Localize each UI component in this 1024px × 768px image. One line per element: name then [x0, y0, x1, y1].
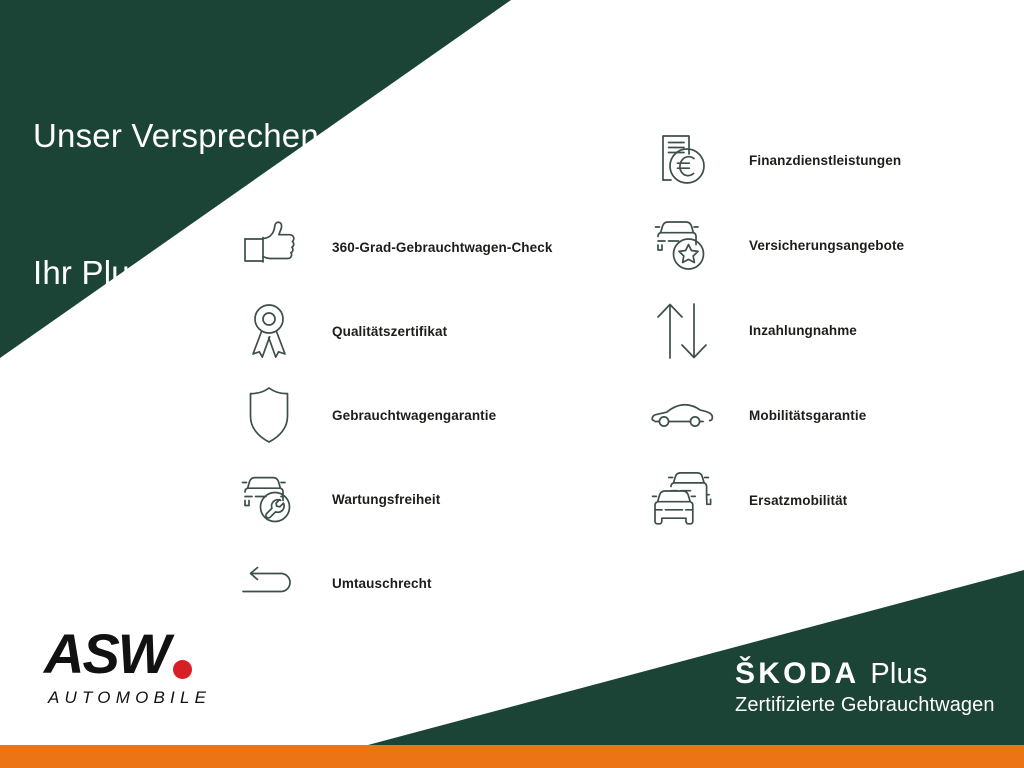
two-cars-icon	[645, 468, 719, 534]
car-wrench-icon	[232, 466, 306, 532]
shield-icon	[232, 382, 306, 448]
skoda-logo-row: ŠKODA Plus	[735, 659, 1015, 689]
feature-label: Umtauschrecht	[332, 576, 432, 591]
return-arrow-icon	[232, 550, 306, 616]
asw-wordmark-text: ASW	[44, 626, 169, 682]
feature-item-versicherungsangebote[interactable]: Versicherungsangebote	[645, 203, 1015, 288]
rosette-award-icon	[232, 298, 306, 364]
feature-item-360-grad-check[interactable]: 360-Grad-Gebrauchtwagen-Check	[232, 205, 592, 289]
feature-label: Finanzdienstleistungen	[749, 153, 901, 168]
asw-logo[interactable]: ASW AUTOMOBILE	[44, 626, 279, 718]
feature-column-right: Finanzdienstleistungen Versicherungsange…	[645, 118, 1015, 543]
feature-item-gebrauchtwagengarantie[interactable]: Gebrauchtwagengarantie	[232, 373, 592, 457]
feature-label: Qualitätszertifikat	[332, 324, 447, 339]
feature-label: Wartungsfreiheit	[332, 492, 440, 507]
feature-label: Ersatzmobilität	[749, 493, 847, 508]
feature-item-finanzdienstleistungen[interactable]: Finanzdienstleistungen	[645, 118, 1015, 203]
feature-label: 360-Grad-Gebrauchtwagen-Check	[332, 240, 552, 255]
headline-line-1: Unser Versprechen.	[33, 113, 328, 159]
asw-wordmark-row: ASW	[44, 626, 279, 682]
skoda-wordmark: ŠKODA	[735, 659, 859, 689]
skoda-plus-logo[interactable]: ŠKODA Plus Zertifizierte Gebrauchtwagen	[735, 659, 1015, 729]
feature-label: Inzahlungnahme	[749, 323, 857, 338]
car-star-icon	[645, 213, 719, 279]
red-dot-icon	[173, 660, 192, 679]
feature-label: Mobilitätsgarantie	[749, 408, 866, 423]
feature-label: Gebrauchtwagengarantie	[332, 408, 496, 423]
skoda-plus-word: Plus	[870, 660, 927, 689]
skoda-subtitle: Zertifizierte Gebrauchtwagen	[735, 694, 1015, 717]
car-side-icon	[645, 383, 719, 449]
feature-item-umtauschrecht[interactable]: Umtauschrecht	[232, 541, 592, 625]
feature-column-left: 360-Grad-Gebrauchtwagen-Check Qualitätsz…	[232, 205, 592, 625]
feature-item-wartungsfreiheit[interactable]: Wartungsfreiheit	[232, 457, 592, 541]
asw-subtitle: AUTOMOBILE	[48, 688, 279, 708]
feature-item-mobilitaetsgarantie[interactable]: Mobilitätsgarantie	[645, 373, 1015, 458]
feature-item-ersatzmobilitaet[interactable]: Ersatzmobilität	[645, 458, 1015, 543]
document-euro-icon	[645, 128, 719, 194]
feature-item-inzahlungnahme[interactable]: Inzahlungnahme	[645, 288, 1015, 373]
feature-label: Versicherungsangebote	[749, 238, 904, 253]
up-down-arrows-icon	[645, 298, 719, 364]
orange-footer-bar	[0, 745, 1024, 768]
poster-canvas: Unser Versprechen. Ihr Plus. 360-Grad-Ge…	[0, 0, 1024, 768]
feature-item-qualitaetszertifikat[interactable]: Qualitätszertifikat	[232, 289, 592, 373]
thumbs-up-icon	[232, 214, 306, 280]
